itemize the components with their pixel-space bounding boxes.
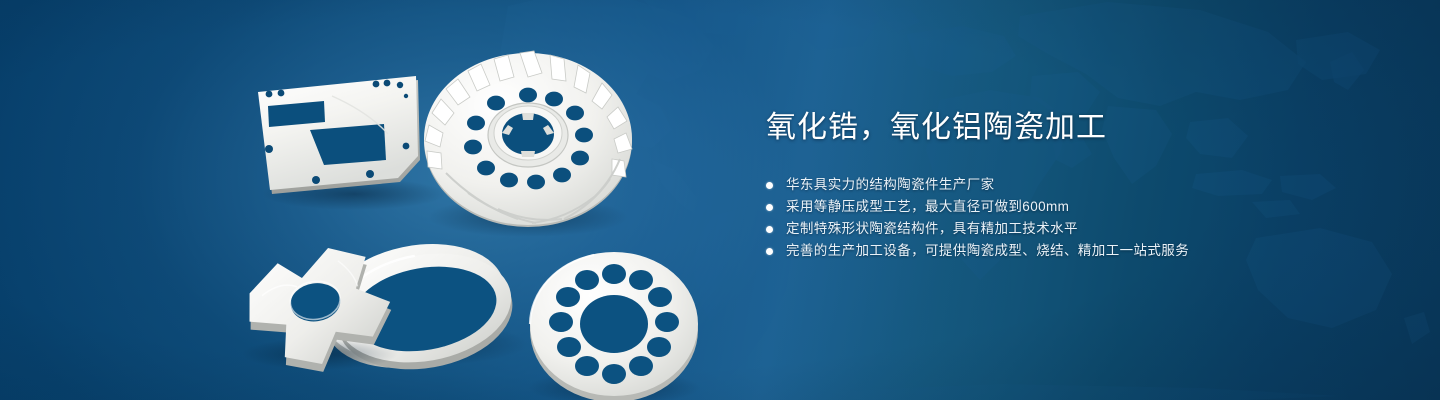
feature-text: 定制特殊形状陶瓷结构件，具有精加工技术水平 (786, 218, 1078, 240)
bullet-dot-icon (766, 226, 773, 233)
bullet-dot-icon (766, 182, 773, 189)
feature-list-item: 定制特殊形状陶瓷结构件，具有精加工技术水平 (766, 218, 1386, 240)
feature-text: 完善的生产加工设备，可提供陶瓷成型、烧结、精加工一站式服务 (786, 240, 1189, 262)
feature-list-item: 完善的生产加工设备，可提供陶瓷成型、烧结、精加工一站式服务 (766, 240, 1386, 262)
banner-headline: 氧化锆，氧化铝陶瓷加工 (766, 108, 1386, 148)
ceramic-impeller-disc (424, 51, 632, 237)
feature-list-item: 华东具实力的结构陶瓷件生产厂家 (766, 174, 1386, 196)
promo-banner: 氧化锆，氧化铝陶瓷加工 华东具实力的结构陶瓷件生产厂家 采用等静压成型工艺，最大… (0, 0, 1440, 400)
machined-ceramic-plate (258, 76, 446, 210)
perforated-ceramic-disc (528, 252, 700, 400)
feature-text: 采用等静压成型工艺，最大直径可做到600mm (786, 196, 1069, 218)
feature-list-item: 采用等静压成型工艺，最大直径可做到600mm (766, 196, 1386, 218)
bullet-dot-icon (766, 248, 773, 255)
feature-list: 华东具实力的结构陶瓷件生产厂家 采用等静压成型工艺，最大直径可做到600mm 定… (766, 174, 1386, 262)
ceramic-products-image (228, 34, 718, 394)
feature-text: 华东具实力的结构陶瓷件生产厂家 (786, 174, 995, 196)
bullet-dot-icon (766, 204, 773, 211)
banner-copy: 氧化锆，氧化铝陶瓷加工 华东具实力的结构陶瓷件生产厂家 采用等静压成型工艺，最大… (766, 108, 1386, 262)
